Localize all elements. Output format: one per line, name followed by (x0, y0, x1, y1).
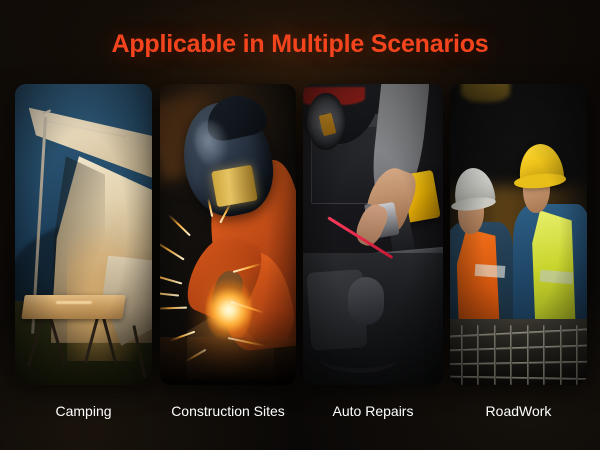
scenario-card-auto-repairs[interactable] (303, 84, 443, 385)
roadwork-photo (450, 84, 587, 385)
scenario-card-camping[interactable] (15, 84, 152, 385)
scenario-card-construction-sites[interactable] (160, 84, 296, 385)
caption-camping: Camping (15, 401, 152, 421)
camping-photo (15, 84, 152, 385)
auto-repair-photo (303, 84, 443, 385)
caption-construction-sites: Construction Sites (158, 401, 298, 421)
page-title: Applicable in Multiple Scenarios (0, 30, 600, 59)
scenario-card-roadwork[interactable] (450, 84, 587, 385)
welding-photo (160, 84, 296, 385)
caption-roadwork: RoadWork (450, 401, 587, 421)
caption-auto-repairs: Auto Repairs (303, 401, 443, 421)
promo-banner: Applicable in Multiple Scenarios (0, 0, 600, 450)
